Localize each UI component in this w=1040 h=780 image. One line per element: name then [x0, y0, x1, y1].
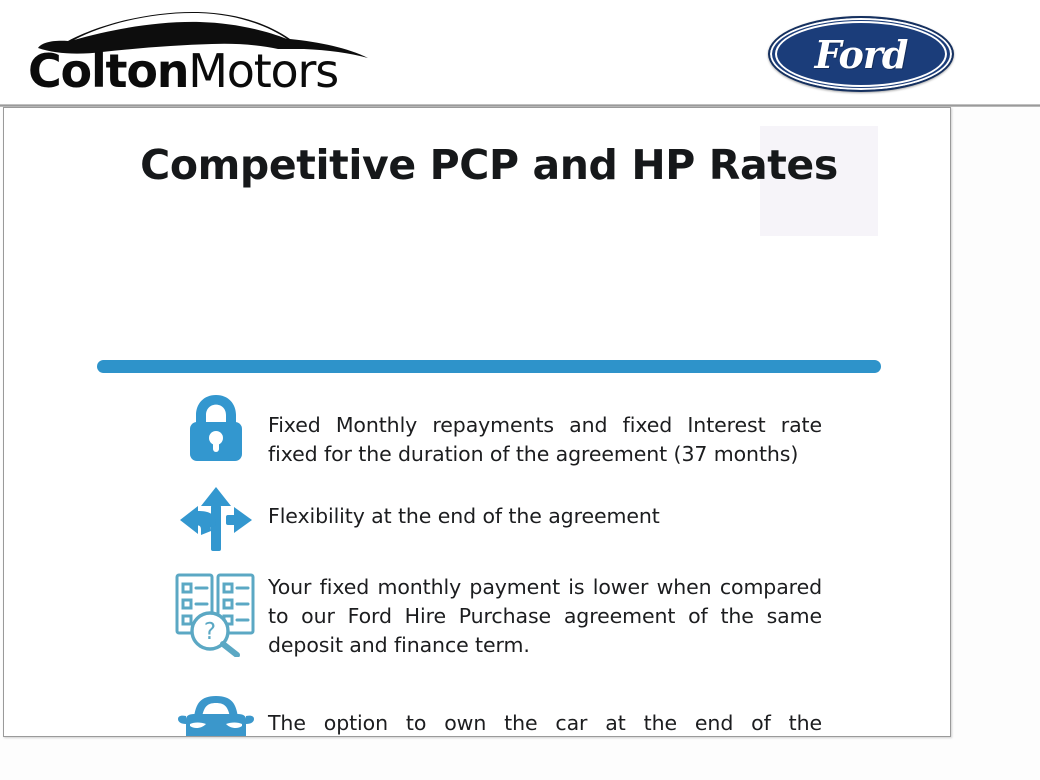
ford-script-text: Ford: [768, 16, 954, 92]
brand-wordmark: ColtonMotors: [28, 48, 338, 94]
brand-name-light: Motors: [188, 44, 338, 98]
car-front-icon: [4, 685, 268, 737]
list-item: Flexibility at the end of the agreement: [4, 485, 950, 553]
benefits-list: Fixed Monthly repayments and fixed Inter…: [4, 391, 950, 737]
content-card: Competitive PCP and HP Rates Fixed Month…: [3, 107, 951, 737]
ford-oval-logo[interactable]: Ford: [768, 16, 954, 92]
colton-motors-logo[interactable]: ColtonMotors: [28, 6, 378, 104]
list-item: Fixed Monthly repayments and fixed Inter…: [4, 391, 950, 469]
svg-text:?: ?: [204, 619, 216, 645]
three-way-arrows-icon: [4, 485, 268, 553]
title-divider-bar: [97, 360, 881, 373]
list-item-label: Your fixed monthly payment is lower when…: [268, 567, 950, 660]
page-header: ColtonMotors Ford: [0, 0, 1040, 107]
list-item: ? Your fixed monthly payment is lower wh…: [4, 567, 950, 660]
padlock-icon: [4, 391, 268, 463]
brand-name-bold: Colton: [28, 44, 188, 98]
checklist-documents-magnifier-question-icon: ?: [4, 567, 268, 657]
list-item: The option to own the car at the end of …: [4, 685, 950, 737]
list-item-label: The option to own the car at the end of …: [268, 685, 950, 737]
list-item-label: Fixed Monthly repayments and fixed Inter…: [268, 391, 950, 469]
list-item-label: Flexibility at the end of the agreement: [268, 485, 950, 531]
page-title: Competitive PCP and HP Rates: [94, 138, 884, 192]
